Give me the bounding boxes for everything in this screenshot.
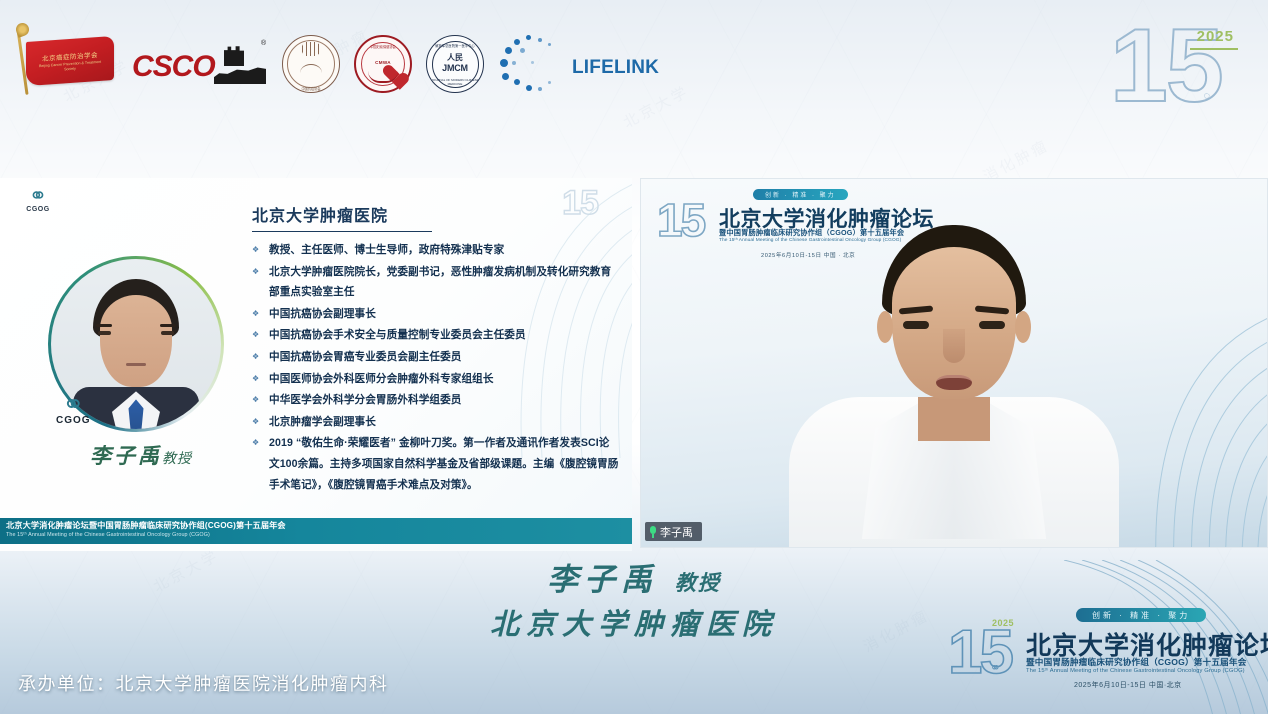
bio-item: 2019 “敬佑生命·荣耀医者” 金柳叶刀奖。第一作者及通讯作者发表SCI论文1…: [252, 433, 620, 495]
slide-cgog-logo: ⚭ CGOG: [14, 186, 62, 213]
registered-mark: ®: [261, 40, 266, 47]
calligraphy-name: 李子禹: [547, 562, 658, 598]
lifelink-wordmark: LIFELINK: [572, 57, 659, 79]
slide-footer-ribbon: 北京大学消化肿瘤论坛暨中国胃肠肿瘤临床研究协作组(CGOG)第十五届年会 The…: [0, 518, 632, 544]
great-wall-icon: ®: [208, 40, 266, 86]
cgog-mark-icon: ⚭: [14, 186, 62, 206]
bio-item: 教授、主任医师、博士生导师，政府特殊津贴专家: [252, 240, 620, 261]
divider: [1190, 48, 1238, 50]
bio-heading: 北京大学肿瘤医院: [252, 202, 432, 232]
logo-cmwa: 中国妇幼保健协会 CMWA: [354, 35, 412, 93]
bio-list: 教授、主任医师、博士生导师，政府特殊津贴专家 北京大学肿瘤医院院长，党委副书记，…: [252, 240, 620, 495]
ribbon-title-cn: 北京大学消化肿瘤论坛暨中国胃肠肿瘤临床研究协作组(CGOG)第十五届年会: [6, 521, 632, 531]
participant-name: 李子禹: [660, 524, 693, 540]
bio-item: 中国抗癌协会胃癌专业委员会副主任委员: [252, 347, 620, 368]
speaker-video-image: [789, 225, 1119, 547]
brand-subtitle-cn: 暨中国胃肠肿瘤临床研究协作组（CGOG）第十五届年会: [1026, 656, 1247, 668]
jmcm-cn: 人民: [426, 52, 484, 63]
ribbon-title-en: The 15ᵗʰ Annual Meeting of the Chinese G…: [6, 531, 632, 540]
cgog-mark-icon: ◌: [1203, 90, 1210, 102]
calligraphy-title: 教授: [675, 570, 721, 595]
portrait-cgog-badge: ⚭ CGOG: [56, 393, 91, 426]
brand-title-en: The 15ᵗʰ Annual Meeting of the Chinese G…: [1026, 668, 1245, 674]
emblem-label: 中国抗癌协会: [282, 86, 340, 91]
dot-swirl-icon: [498, 31, 572, 97]
event-brand-lockup: 15 2025 ⚭ 创新 · 精准 · 聚力 北京大学消化肿瘤论坛 暨中国胃肠肿…: [948, 608, 1248, 700]
participant-name-badge: 李子禹: [645, 522, 702, 541]
cmwa-arc-top: 中国妇幼保健协会: [354, 44, 412, 49]
brand-date: 2025年6月10日-15日 中国·北京: [1074, 680, 1182, 690]
anniversary-number: 15: [1110, 8, 1222, 124]
brand-tagline-pill: 创新 · 精准 · 聚力: [1076, 608, 1206, 622]
slide-speaker-title: 教授: [162, 451, 192, 467]
logo-chinese-anti-cancer-association: 中国抗癌协会: [282, 35, 340, 93]
speaker-bio: 北京大学肿瘤医院 教授、主任医师、博士生导师，政府特殊津贴专家 北京大学肿瘤医院…: [252, 202, 620, 496]
anniversary-year: 2025: [1197, 28, 1234, 45]
brand-year: 2025: [992, 618, 1014, 628]
logo-beijing-cancer-society: 北京癌症防治学会 Beijing Cancer Prevention & Tre…: [14, 33, 118, 95]
video-anniversary-number: 15: [657, 197, 704, 243]
presentation-slide[interactable]: 15 ⚭ CGOG ⚭ CGOG 李子禹教授 北京大学肿瘤医院: [0, 178, 632, 551]
cgog-logo-text: CGOG: [14, 206, 62, 213]
cmwa-acronym: CMWA: [354, 60, 412, 65]
slide-speaker-name: 李子禹: [90, 443, 162, 468]
host-organization-line: 承办单位：北京大学肿瘤医院消化肿瘤内科: [18, 670, 389, 696]
bottom-banner: 李子禹 教授 北京大学肿瘤医院 承办单位：北京大学肿瘤医院消化肿瘤内科 15 2…: [0, 551, 1268, 714]
logo-jmcm: 解放军总医院第一医学中心 人民 JMCM JOURNAL OF MODERN C…: [426, 35, 484, 93]
sponsor-logo-bar: 北京癌症防治学会 Beijing Cancer Prevention & Tre…: [0, 0, 1268, 128]
slide-speaker-name-block: 李子禹教授: [46, 440, 236, 470]
bio-item: 北京肿瘤学会副理事长: [252, 412, 620, 433]
brand-anniversary-number: 15: [948, 622, 1011, 684]
video-tile[interactable]: 15 创新 · 精准 · 聚力 北京大学消化肿瘤论坛 暨中国胃肠肿瘤临床研究协作…: [640, 178, 1268, 548]
jmcm-arc-top: 解放军总医院第一医学中心: [426, 43, 484, 48]
bio-item: 中国抗癌协会手术安全与质量控制专业委员会主任委员: [252, 325, 620, 346]
bio-item: 中国抗癌协会副理事长: [252, 304, 620, 325]
portrait-cgog-text: CGOG: [56, 415, 91, 426]
bio-item: 中国医师协会外科医师分会肿瘤外科专家组组长: [252, 369, 620, 390]
video-tagline-pill: 创新 · 精准 · 聚力: [753, 189, 848, 200]
cgog-mark-icon: ⚭: [990, 660, 1001, 676]
logo-csco: CSCO ®: [132, 38, 268, 90]
speaker-portrait: ⚭ CGOG: [48, 256, 224, 432]
bio-item: 北京大学肿瘤医院院长，党委副书记，恶性肿瘤发病机制及转化研究教育部重点实验室主任: [252, 262, 620, 303]
mic-on-icon: [649, 526, 657, 538]
jmcm-arc-bottom: JOURNAL OF MODERN CHINESE MEDICINE: [426, 78, 484, 86]
cgog-mark-icon: ⚭: [56, 393, 91, 415]
anniversary-badge: 15 2025 ◌: [1110, 14, 1240, 126]
jmcm-acronym: JMCM: [426, 63, 484, 73]
logo-lifelink: LIFELINK: [498, 31, 648, 97]
csco-wordmark: CSCO: [132, 50, 215, 84]
bio-item: 中华医学会外科学分会胃肠外科学组委员: [252, 390, 620, 411]
